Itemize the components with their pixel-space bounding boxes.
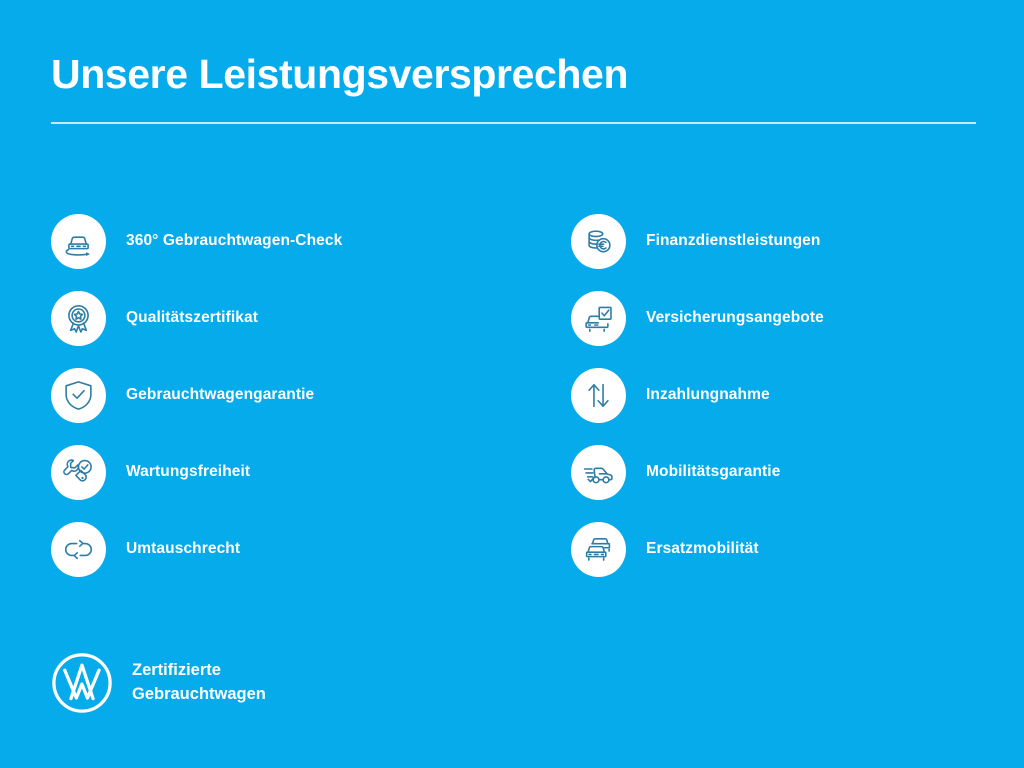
- benefit-item-umtauschrecht[interactable]: Umtauschrecht: [51, 511, 571, 588]
- benefit-label: Finanzdienstleistungen: [646, 232, 820, 251]
- car-checklist-icon: [571, 291, 626, 346]
- title-divider: [51, 122, 976, 124]
- benefit-label: Mobilitätsgarantie: [646, 463, 780, 482]
- benefit-label: Wartungsfreiheit: [126, 463, 250, 482]
- shield-check-icon: [51, 368, 106, 423]
- moving-car-icon: [571, 445, 626, 500]
- benefit-label: Inzahlungnahme: [646, 386, 770, 405]
- brand-text-line2: Gebrauchtwagen: [132, 685, 266, 703]
- benefit-item-ersatzmobilitaet[interactable]: Ersatzmobilität: [571, 511, 976, 588]
- brand-text-line1: Zertifizierte: [132, 661, 221, 679]
- wrench-check-icon: [51, 445, 106, 500]
- volkswagen-logo: [51, 652, 113, 714]
- benefit-item-finanzdienstleistungen[interactable]: Finanzdienstleistungen: [571, 203, 976, 280]
- page-title: Unsere Leistungsversprechen: [51, 52, 976, 98]
- benefit-label: Gebrauchtwagengarantie: [126, 386, 314, 405]
- benefit-item-versicherungsangebote[interactable]: Versicherungsangebote: [571, 280, 976, 357]
- benefit-label: Umtauschrecht: [126, 540, 240, 559]
- benefits-grid: 360° Gebrauchtwagen-Check Finanzdienstle…: [51, 203, 976, 588]
- benefit-item-qualitaetszertifikat[interactable]: Qualitätszertifikat: [51, 280, 571, 357]
- coins-euro-icon: [571, 214, 626, 269]
- up-down-arrows-icon: [571, 368, 626, 423]
- benefit-item-gebrauchtwagengarantie[interactable]: Gebrauchtwagengarantie: [51, 357, 571, 434]
- header: Unsere Leistungsversprechen: [51, 52, 976, 124]
- benefit-label: Qualitätszertifikat: [126, 309, 258, 328]
- award-rosette-icon: [51, 291, 106, 346]
- benefit-item-wartungsfreiheit[interactable]: Wartungsfreiheit: [51, 434, 571, 511]
- benefit-label: Ersatzmobilität: [646, 540, 759, 559]
- benefit-item-mobilitaetsgarantie[interactable]: Mobilitätsgarantie: [571, 434, 976, 511]
- benefit-label: Versicherungsangebote: [646, 309, 824, 328]
- benefit-item-inzahlungnahme[interactable]: Inzahlungnahme: [571, 357, 976, 434]
- brand-text: Zertifizierte Gebrauchtwagen: [132, 659, 266, 707]
- brand-lockup: Zertifizierte Gebrauchtwagen: [51, 652, 266, 714]
- two-cars-icon: [571, 522, 626, 577]
- swap-arrows-icon: [51, 522, 106, 577]
- slide-root: Unsere Leistungsversprechen 360° Gebrauc…: [0, 0, 1024, 768]
- benefit-item-gebrauchtwagen-check[interactable]: 360° Gebrauchtwagen-Check: [51, 203, 571, 280]
- benefit-label: 360° Gebrauchtwagen-Check: [126, 232, 342, 251]
- car-360-check-icon: [51, 214, 106, 269]
